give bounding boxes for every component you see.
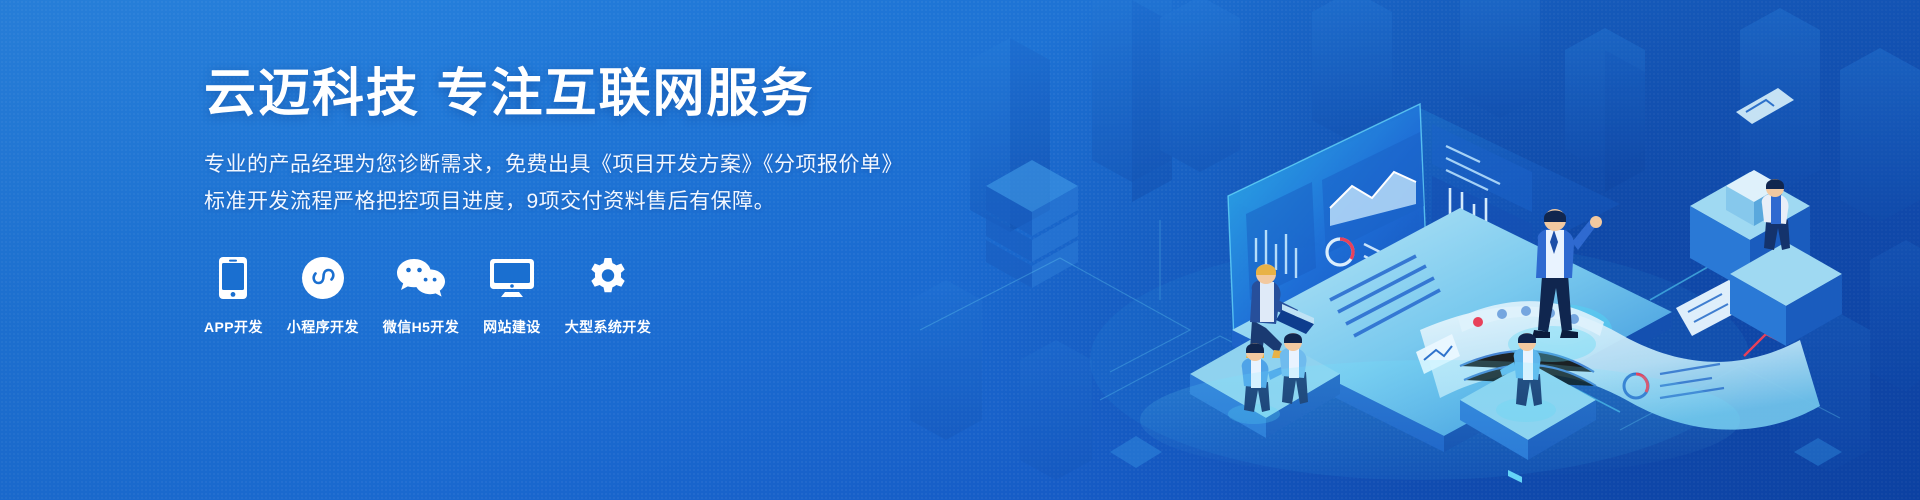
wechat-icon <box>396 255 446 301</box>
service-item-app[interactable]: APP开发 <box>204 255 263 337</box>
service-item-large-system[interactable]: 大型系统开发 <box>565 255 651 337</box>
service-label-mini-program: 小程序开发 <box>287 317 359 337</box>
service-label-website: 网站建设 <box>483 317 541 337</box>
banner-subtitle: 专业的产品经理为您诊断需求，免费出具《项目开发方案》《分项报价单》 标准开发流程… <box>204 147 924 221</box>
illustration-isometric-tech-scene <box>860 0 1920 500</box>
service-label-wechat-h5: 微信H5开发 <box>383 317 459 337</box>
service-item-wechat-h5[interactable]: 微信H5开发 <box>383 255 459 337</box>
banner-content: 云迈科技 专注互联网服务 专业的产品经理为您诊断需求，免费出具《项目开发方案》《… <box>204 62 924 337</box>
mini-program-icon <box>301 255 345 301</box>
hero-banner: 云迈科技 专注互联网服务 专业的产品经理为您诊断需求，免费出具《项目开发方案》《… <box>0 0 1920 500</box>
service-label-app: APP开发 <box>204 317 263 337</box>
subtitle-line-1: 专业的产品经理为您诊断需求，免费出具《项目开发方案》《分项报价单》 <box>204 147 924 184</box>
service-list: APP开发 小程序开发 <box>204 255 924 337</box>
service-item-website[interactable]: 网站建设 <box>483 255 541 337</box>
service-label-large-system: 大型系统开发 <box>565 317 651 337</box>
service-item-mini-program[interactable]: 小程序开发 <box>287 255 359 337</box>
gear-icon <box>587 255 629 301</box>
mobile-phone-icon <box>218 255 248 301</box>
subtitle-line-2: 标准开发流程严格把控项目进度，9项交付资料售后有保障。 <box>204 184 924 221</box>
monitor-icon <box>489 255 535 301</box>
page-title: 云迈科技 专注互联网服务 <box>204 62 924 127</box>
